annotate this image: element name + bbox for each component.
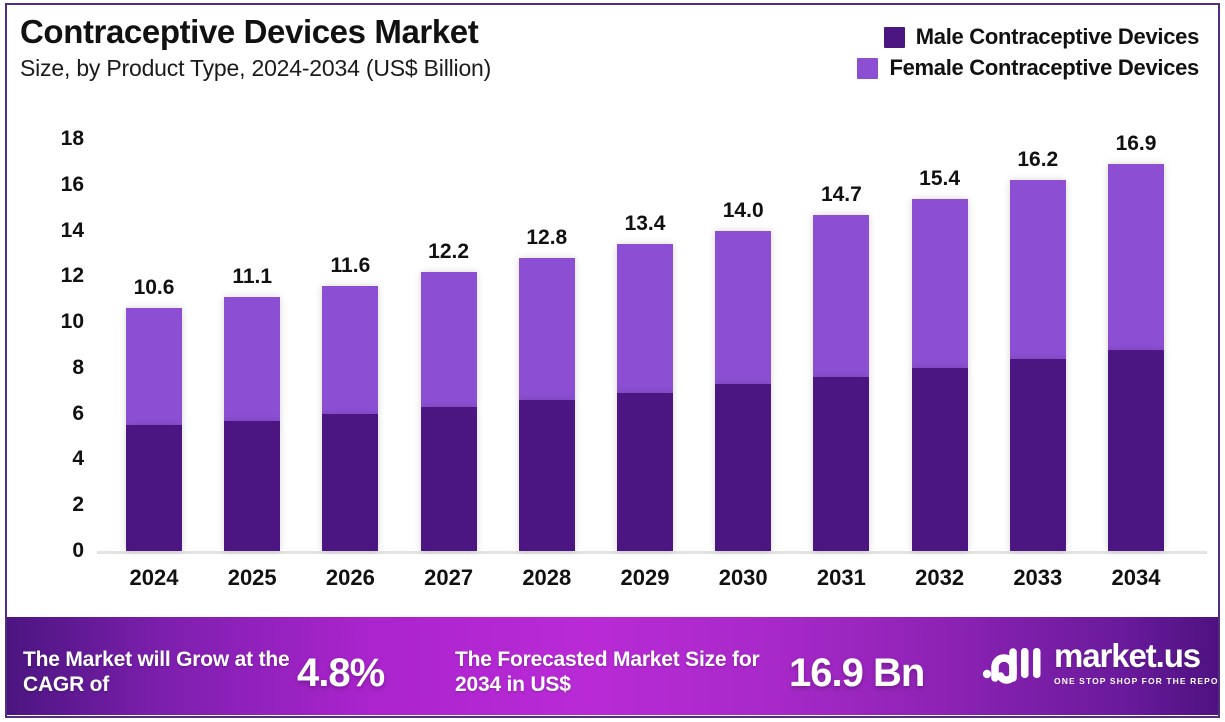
bar-total-label: 14.0: [723, 199, 764, 223]
logo-wordmark: market.us ONE STOP SHOP FOR THE REPORTS: [1054, 639, 1218, 686]
chart-plot-area: 024681012141618 10.6202411.1202511.62026…: [0, 0, 1225, 615]
bar-segment-male[interactable]: [519, 400, 575, 551]
bar-group[interactable]: 11.1: [224, 297, 280, 551]
x-axis-label: 2034: [1108, 565, 1164, 591]
bar-total-label: 12.2: [428, 240, 469, 264]
bar-segment-female[interactable]: [126, 308, 182, 425]
bar-segment-male[interactable]: [715, 384, 771, 551]
bar-segment-female[interactable]: [421, 272, 477, 407]
bar-segment-female[interactable]: [1108, 164, 1164, 349]
cagr-label: The Market will Grow at the CAGR of: [23, 647, 303, 697]
bar-total-label: 14.7: [821, 183, 862, 207]
x-axis-label: 2029: [617, 565, 673, 591]
x-axis-label: 2028: [519, 565, 575, 591]
bar-segment-male[interactable]: [224, 421, 280, 551]
bar-total-label: 11.6: [331, 254, 371, 278]
bar-group[interactable]: 11.6: [322, 286, 378, 552]
bar-group[interactable]: 12.8: [519, 258, 575, 551]
market-us-logo-icon: [982, 640, 1044, 686]
bar-total-label: 13.4: [625, 212, 666, 236]
bar-group[interactable]: 14.0: [715, 231, 771, 551]
bar-group[interactable]: 14.7: [813, 215, 869, 551]
bar-segment-male[interactable]: [617, 393, 673, 551]
bar-total-label: 16.9: [1116, 132, 1157, 156]
bar-group[interactable]: 10.6: [126, 308, 182, 551]
x-axis-label: 2031: [813, 565, 869, 591]
x-axis-label: 2026: [322, 565, 378, 591]
bar-segment-female[interactable]: [912, 199, 968, 368]
x-axis-label: 2024: [126, 565, 182, 591]
bar-segment-male[interactable]: [1010, 359, 1066, 551]
bar-segment-male[interactable]: [813, 377, 869, 551]
x-axis-label: 2027: [421, 565, 477, 591]
bar-total-label: 16.2: [1017, 148, 1058, 172]
bar-segment-male[interactable]: [421, 407, 477, 551]
infographic-root: Contraceptive Devices Market Size, by Pr…: [0, 0, 1225, 722]
bar-total-label: 12.8: [526, 226, 567, 250]
bar-segment-female[interactable]: [1010, 180, 1066, 359]
bar-segment-female[interactable]: [322, 286, 378, 414]
bar-segment-male[interactable]: [912, 368, 968, 551]
forecast-size-value: 16.9 Bn: [789, 651, 924, 696]
x-axis-label: 2030: [715, 565, 771, 591]
x-axis-label: 2033: [1010, 565, 1066, 591]
market-us-logo[interactable]: market.us ONE STOP SHOP FOR THE REPORTS: [982, 639, 1218, 686]
bar-segment-male[interactable]: [322, 414, 378, 551]
bar-segment-female[interactable]: [224, 297, 280, 421]
bar-group[interactable]: 13.4: [617, 244, 673, 551]
bar-total-label: 15.4: [919, 167, 960, 191]
bars-layer: 10.6202411.1202511.6202612.2202712.82028…: [0, 0, 1225, 615]
bar-segment-male[interactable]: [1108, 350, 1164, 551]
logo-tagline: ONE STOP SHOP FOR THE REPORTS: [1054, 676, 1218, 686]
x-axis-label: 2032: [912, 565, 968, 591]
logo-name: market.us: [1054, 639, 1218, 672]
bar-segment-female[interactable]: [715, 231, 771, 384]
bar-group[interactable]: 16.2: [1010, 180, 1066, 551]
bar-group[interactable]: 16.9: [1108, 164, 1164, 551]
x-axis-label: 2025: [224, 565, 280, 591]
bar-segment-male[interactable]: [126, 425, 182, 551]
forecast-size-label: The Forecasted Market Size for 2034 in U…: [455, 647, 765, 697]
bar-group[interactable]: 15.4: [912, 199, 968, 551]
bar-segment-female[interactable]: [813, 215, 869, 378]
bar-segment-female[interactable]: [617, 244, 673, 393]
cagr-value: 4.8%: [297, 651, 384, 696]
bar-total-label: 10.6: [134, 276, 175, 300]
bottom-banner: The Market will Grow at the CAGR of 4.8%…: [7, 617, 1218, 715]
bar-segment-female[interactable]: [519, 258, 575, 400]
bar-group[interactable]: 12.2: [421, 272, 477, 551]
bar-total-label: 11.1: [232, 265, 272, 289]
